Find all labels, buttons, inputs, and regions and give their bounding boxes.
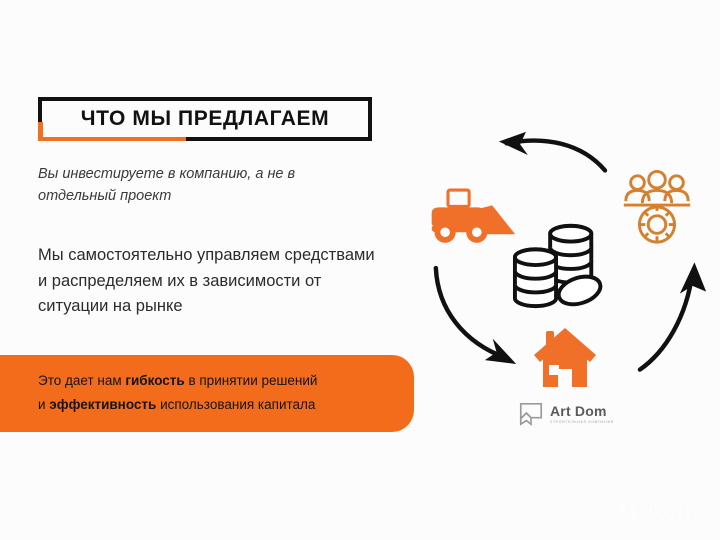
callout-line2-suffix: использования капитала	[156, 397, 315, 412]
logo-tagline: СТРОИТЕЛЬНАЯ КОМПАНИЯ	[550, 421, 614, 424]
logo-name: Art Dom	[550, 404, 614, 418]
avito-dots-icon	[616, 501, 640, 525]
art-dom-logo: Art Dom СТРОИТЕЛЬНАЯ КОМПАНИЯ	[518, 398, 630, 430]
body-paragraph: Мы самостоятельно управляем средствами и…	[38, 243, 378, 320]
slide-canvas: ЧТО МЫ ПРЕДЛАГАЕМ Вы инвестируете в комп…	[0, 0, 720, 540]
subtitle-text: Вы инвестируете в компанию, а не в отдел…	[38, 164, 368, 208]
heading-box: ЧТО МЫ ПРЕДЛАГАЕМ	[38, 97, 372, 141]
logo-mark-icon	[518, 401, 544, 427]
investment-cycle-diagram	[410, 120, 710, 440]
callout-line1-suffix: в принятии решений	[185, 373, 318, 388]
curved-arrow-down-icon	[428, 262, 526, 374]
callout-line2-bold: эффективность	[49, 397, 156, 412]
people-gear-icon	[618, 168, 696, 246]
callout-line1-prefix: Это дает нам	[38, 373, 125, 388]
callout-line-2: и эффективность использования капитала	[38, 393, 388, 417]
house-icon	[532, 325, 598, 391]
left-content-column: ЧТО МЫ ПРЕДЛАГАЕМ Вы инвестируете в комп…	[0, 0, 420, 540]
callout-line1-bold: гибкость	[125, 373, 184, 388]
callout-line-1: Это дает нам гибкость в принятии решений	[38, 369, 388, 393]
logo-text-group: Art Dom СТРОИТЕЛЬНАЯ КОМПАНИЯ	[550, 404, 614, 424]
avito-watermark: Avito	[616, 497, 708, 528]
callout-banner: Это дает нам гибкость в принятии решений…	[0, 355, 414, 432]
curved-arrow-left-icon	[492, 128, 610, 182]
avito-watermark-text: Avito	[644, 497, 708, 528]
curved-arrow-up-icon	[636, 258, 712, 376]
callout-line2-prefix: и	[38, 397, 49, 412]
page-title: ЧТО МЫ ПРЕДЛАГАЕМ	[81, 107, 330, 131]
heading-accent-horizontal	[38, 137, 186, 141]
